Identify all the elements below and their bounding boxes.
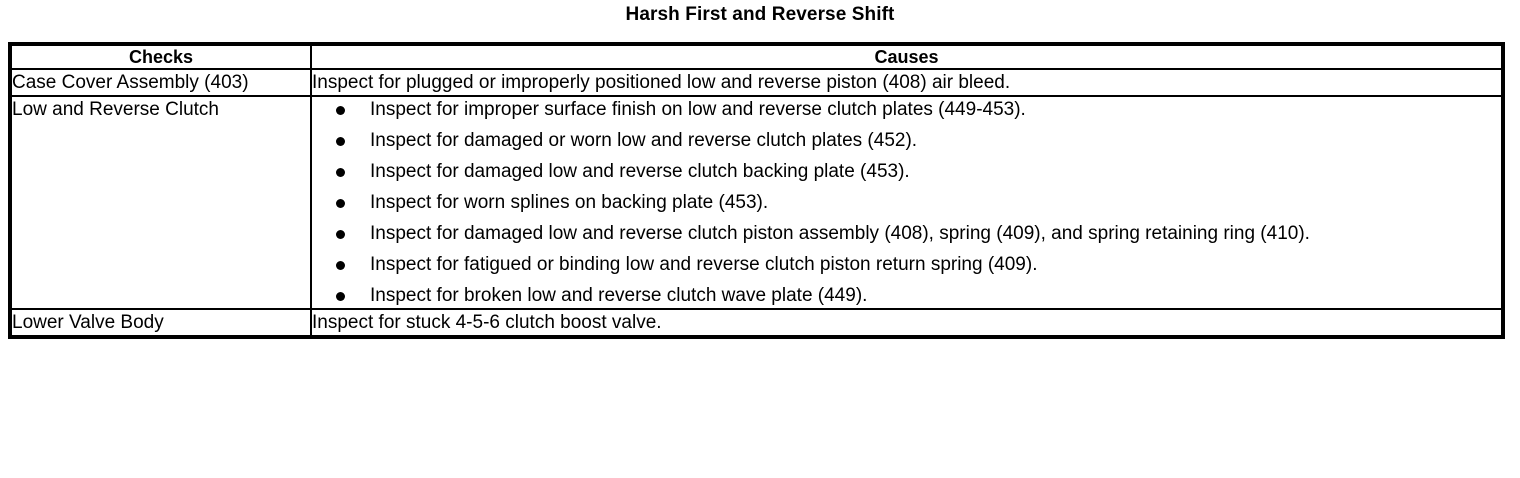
list-item-text: Inspect for fatigued or binding low and …	[370, 254, 1037, 275]
cell-check-low-and-reverse-clutch: Low and Reverse Clutch	[12, 96, 311, 309]
list-item: Inspect for improper surface finish on l…	[312, 97, 1501, 122]
bullet-icon	[336, 292, 345, 301]
bullet-icon	[336, 230, 345, 239]
list-item: Inspect for damaged low and reverse clut…	[312, 159, 1501, 184]
list-item-text: Inspect for damaged or worn low and reve…	[370, 130, 917, 151]
table-row: Lower Valve Body Inspect for stuck 4-5-6…	[12, 309, 1501, 335]
column-header-checks: Checks	[12, 46, 311, 69]
list-item: Inspect for damaged low and reverse clut…	[312, 221, 1501, 246]
diagnostic-table-container: Checks Causes Case Cover Assembly (403) …	[8, 42, 1505, 339]
cell-check-lower-valve-body: Lower Valve Body	[12, 309, 311, 335]
page-title: Harsh First and Reverse Shift	[0, 3, 1520, 27]
cell-cause-low-and-reverse-clutch: Inspect for improper surface finish on l…	[311, 96, 1501, 309]
list-item: Inspect for fatigued or binding low and …	[312, 252, 1501, 277]
bullet-icon	[336, 261, 345, 270]
list-item: Inspect for damaged or worn low and reve…	[312, 128, 1501, 153]
list-item-text: Inspect for improper surface finish on l…	[370, 99, 1026, 120]
bullet-icon	[336, 137, 345, 146]
bullet-icon	[336, 168, 345, 177]
table-body: Case Cover Assembly (403) Inspect for pl…	[12, 69, 1501, 335]
cell-cause-lower-valve-body: Inspect for stuck 4-5-6 clutch boost val…	[311, 309, 1501, 335]
list-item: Inspect for worn splines on backing plat…	[312, 190, 1501, 215]
column-header-causes: Causes	[311, 46, 1501, 69]
bullet-icon	[336, 199, 345, 208]
table-row: Low and Reverse Clutch Inspect for impro…	[12, 96, 1501, 309]
list-item-text: Inspect for worn splines on backing plat…	[370, 192, 768, 213]
table-row: Case Cover Assembly (403) Inspect for pl…	[12, 69, 1501, 96]
cause-bullet-list: Inspect for improper surface finish on l…	[312, 97, 1501, 308]
table-header-row: Checks Causes	[12, 46, 1501, 69]
list-item-text: Inspect for damaged low and reverse clut…	[370, 161, 910, 182]
diagnostic-table: Checks Causes Case Cover Assembly (403) …	[12, 46, 1501, 335]
list-item-text: Inspect for damaged low and reverse clut…	[370, 223, 1310, 244]
table-header: Checks Causes	[12, 46, 1501, 69]
list-item: Inspect for broken low and reverse clutc…	[312, 283, 1501, 308]
cell-check-case-cover-assembly: Case Cover Assembly (403)	[12, 69, 311, 96]
cell-cause-case-cover-assembly: Inspect for plugged or improperly positi…	[311, 69, 1501, 96]
document-page: Harsh First and Reverse Shift Checks Cau…	[0, 0, 1520, 478]
list-item-text: Inspect for broken low and reverse clutc…	[370, 285, 867, 306]
bullet-icon	[336, 106, 345, 115]
